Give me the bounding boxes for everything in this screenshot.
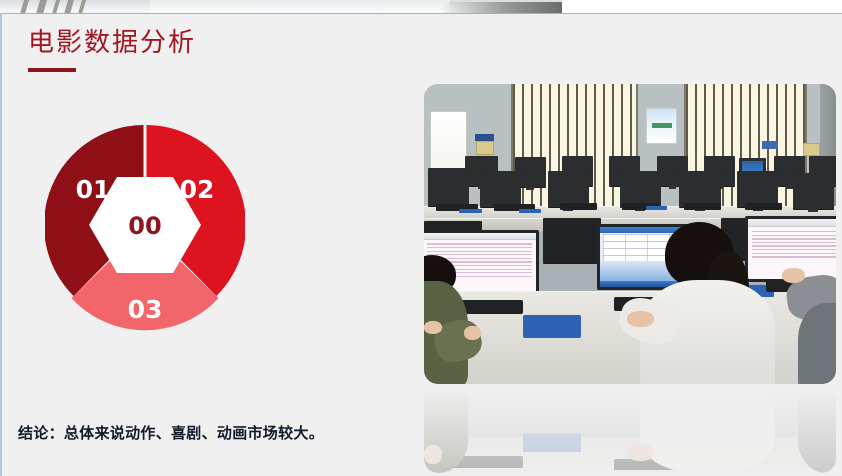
person-center [630, 222, 803, 384]
person-left [424, 252, 523, 384]
keyboard-back [745, 203, 782, 210]
left-border-rule [0, 13, 2, 476]
mousepad-back [519, 209, 542, 214]
blind-slat [77, 0, 86, 13]
mousepad-back [459, 209, 482, 214]
top-photo-strip [0, 0, 562, 13]
donut-chart: 01 02 03 00 [45, 105, 245, 345]
title-block: 电影数据分析 [28, 30, 196, 72]
donut-svg: 01 02 03 00 [45, 105, 245, 345]
blind-slat [51, 0, 60, 13]
monitor-mid-back [543, 218, 601, 263]
wall-sign-blue [762, 141, 778, 149]
pie-label-02: 02 [180, 175, 215, 204]
wall-poster [646, 108, 677, 144]
mousepad-back [646, 206, 667, 211]
computer-lab-photo [424, 84, 836, 384]
mousepad-front-left [523, 315, 581, 338]
conclusion-line-1: 结论：总体来说动作、喜剧、动画市场较大。 [18, 421, 828, 446]
conclusion-text: 结论：总体来说动作、喜剧、动画市场较大。 时长控制在90~100分钟左右最受欢迎… [18, 371, 828, 476]
center-value: 00 [128, 212, 161, 240]
title-underline [28, 68, 76, 72]
monitor-mid [480, 171, 521, 207]
photo-scene [424, 84, 836, 384]
strip-smear [442, 2, 562, 13]
monitor-mid [679, 171, 720, 207]
blind-slat [35, 0, 47, 13]
monitor-mid [620, 171, 661, 207]
monitor-mid [793, 173, 834, 209]
person-right [778, 258, 836, 384]
blind-slat [19, 0, 29, 13]
monitor-mid [548, 171, 589, 207]
keyboard-back [560, 203, 597, 210]
monitor-mid [737, 171, 778, 207]
pie-label-01: 01 [76, 175, 111, 204]
monitor-mid [428, 168, 469, 206]
keyboard-back [684, 203, 721, 210]
blind-slat [63, 0, 74, 13]
pie-label-03: 03 [128, 295, 163, 324]
wall-sign [803, 143, 819, 157]
page-title: 电影数据分析 [28, 30, 196, 56]
strip-wash [150, 0, 450, 13]
wall-sign [476, 141, 495, 155]
slide-canvas: 电影数据分析 01 02 03 00 [0, 0, 842, 476]
